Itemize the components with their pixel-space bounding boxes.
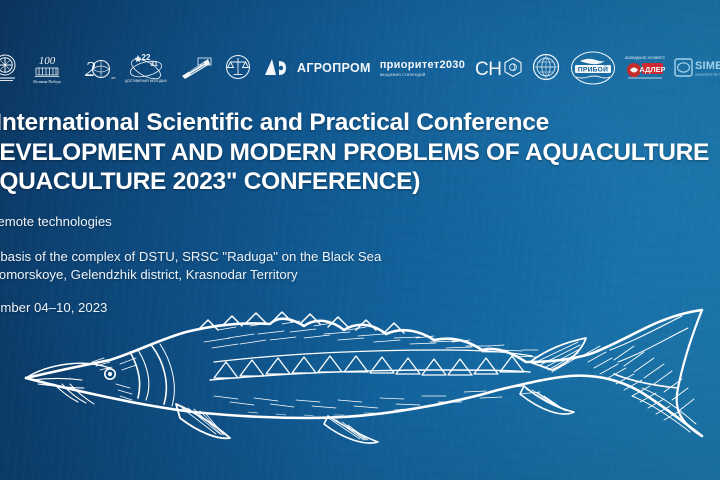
logo-emblem-round-1	[0, 48, 18, 88]
logo-anniversary-100: 100 Великая Победа	[27, 48, 67, 88]
conference-format: g remote technologies	[0, 213, 720, 231]
conference-title-line-1: I International Scientific and Practical…	[0, 108, 720, 138]
svg-text:ПРИБОЙ: ПРИБОЙ	[578, 65, 608, 74]
logo-prioritet-2030: приоритет2030 академия стипендий	[380, 48, 465, 88]
svg-text:100: 100	[39, 55, 56, 67]
logo-da-mark	[262, 48, 288, 88]
logo-globe-emblem	[531, 48, 561, 88]
svg-text:aquaculture bio technologies: aquaculture bio technologies	[695, 73, 720, 77]
svg-text:лет: лет	[111, 75, 116, 80]
logo-simeon: SIMEON aquaculture bio technologies	[674, 48, 720, 88]
venue-line-2: ivnomorskoye, Gelendzhik district, Krasn…	[0, 266, 720, 284]
venue-line-1: he basis of the complex of DSTU, SRSC "R…	[0, 248, 720, 266]
sponsor-logo-strip: 100 Великая Победа 2 лет 22	[0, 44, 720, 92]
logo-agroprom: АГРОПРОМ	[297, 48, 371, 88]
logo-adler-red: РЫБОВОДНОЕ ХОЗЯЙСТВО АДЛЕР	[625, 48, 665, 88]
svg-text:АДЛЕР: АДЛЕР	[640, 65, 666, 74]
svg-text:2: 2	[85, 57, 96, 81]
logo-dstu-stars: 22 31 ДОСТИЖЕНИЯ МОЛОДЫХ	[125, 48, 169, 88]
logo-paper-flag	[178, 48, 214, 88]
logo-prioritet-2030-sublabel: академия стипендий	[380, 72, 426, 77]
logo-anniversary-20: 2 лет	[76, 48, 116, 88]
info-block: g remote technologies he basis of the co…	[0, 213, 720, 317]
conference-poster: 100 Великая Победа 2 лет 22	[0, 0, 720, 480]
svg-text:SIMEON: SIMEON	[695, 60, 720, 72]
logo-scales-justice	[223, 48, 253, 88]
sturgeon-fish-line-art	[18, 300, 718, 460]
svg-text:РЫБОВОДНОЕ ХОЗЯЙСТВО: РЫБОВОДНОЕ ХОЗЯЙСТВО	[625, 56, 665, 60]
logo-prioritet-2030-label: приоритет2030	[380, 59, 465, 71]
conference-dates: ptember 04–10, 2023	[0, 299, 720, 317]
svg-text:ДОСТИЖЕНИЯ МОЛОДЫХ: ДОСТИЖЕНИЯ МОЛОДЫХ	[125, 79, 168, 83]
conference-title-line-2: DEVELOPMENT AND MODERN PROBLEMS OF AQUAC…	[0, 138, 720, 167]
title-block: I International Scientific and Practical…	[0, 108, 720, 196]
svg-text:CH: CH	[475, 59, 501, 80]
conference-title-line-3: AQUACULTURE 2023" CONFERENCE)	[0, 167, 720, 196]
logo-agroprom-label: АГРОПРОМ	[297, 61, 371, 75]
svg-text:Великая Победа: Великая Победа	[33, 79, 61, 84]
logo-priboy: ПРИБОЙ	[570, 48, 616, 88]
logo-ch-hex: CH	[474, 48, 522, 88]
